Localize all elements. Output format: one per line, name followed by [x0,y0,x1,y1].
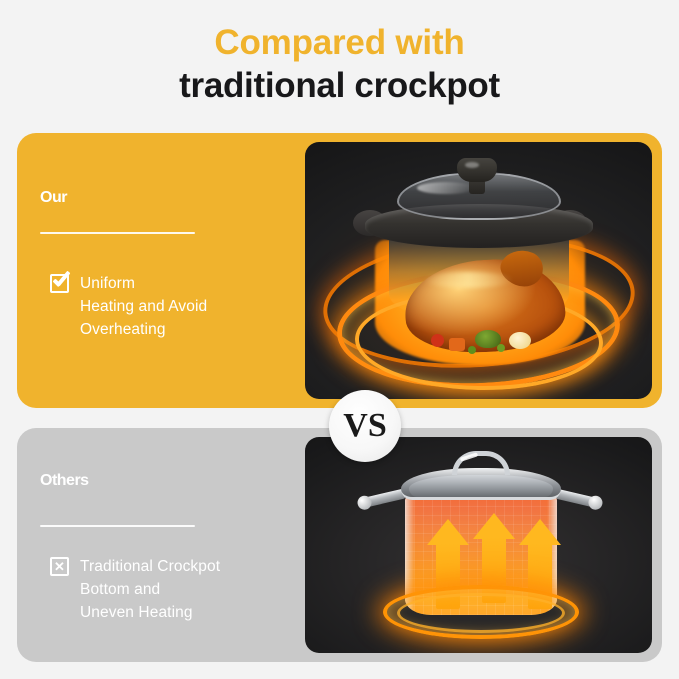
vs-badge: VS [329,390,401,462]
product-image-our [305,142,652,399]
lid-knob [457,158,497,182]
chicken-highlight [423,272,513,288]
card-our-feature: Uniform Heating and Avoid Overheating [50,272,207,341]
lid-highlight [417,182,475,194]
card-others-title: Others [40,473,89,489]
slow-cooker-illustration [305,142,652,399]
vegetable-tomato [431,334,444,347]
header-title-line2: traditional crockpot [0,64,679,108]
header-title-line1: Compared with [0,22,679,64]
vegetable-carrot [449,338,465,351]
x-box-icon: ✕ [50,557,69,576]
product-image-others [305,437,652,653]
card-others-divider [40,525,195,527]
vegetable-pea [468,346,476,354]
card-our-feature-text: Uniform Heating and Avoid Overheating [80,272,207,341]
bottom-heat-glow-ring-inner [397,593,565,633]
check-box-icon [50,274,69,293]
card-our-divider [40,232,195,234]
card-others-text-column [17,428,307,662]
pot-lid-handle [452,451,510,475]
card-our-title: Our [40,190,67,206]
card-others-feature-text: Traditional Crockpot Bottom and Uneven H… [80,555,220,624]
page-header: Compared with traditional crockpot [0,0,679,125]
vegetable-egg [509,332,531,349]
vs-badge-label: VS [343,409,386,443]
lid-knob-highlight [465,162,479,168]
pot-lid-glass-pane [409,475,553,497]
steel-pot-illustration [305,437,652,653]
card-others-feature: ✕ Traditional Crockpot Bottom and Uneven… [50,555,220,624]
vegetable-pea [497,344,505,352]
